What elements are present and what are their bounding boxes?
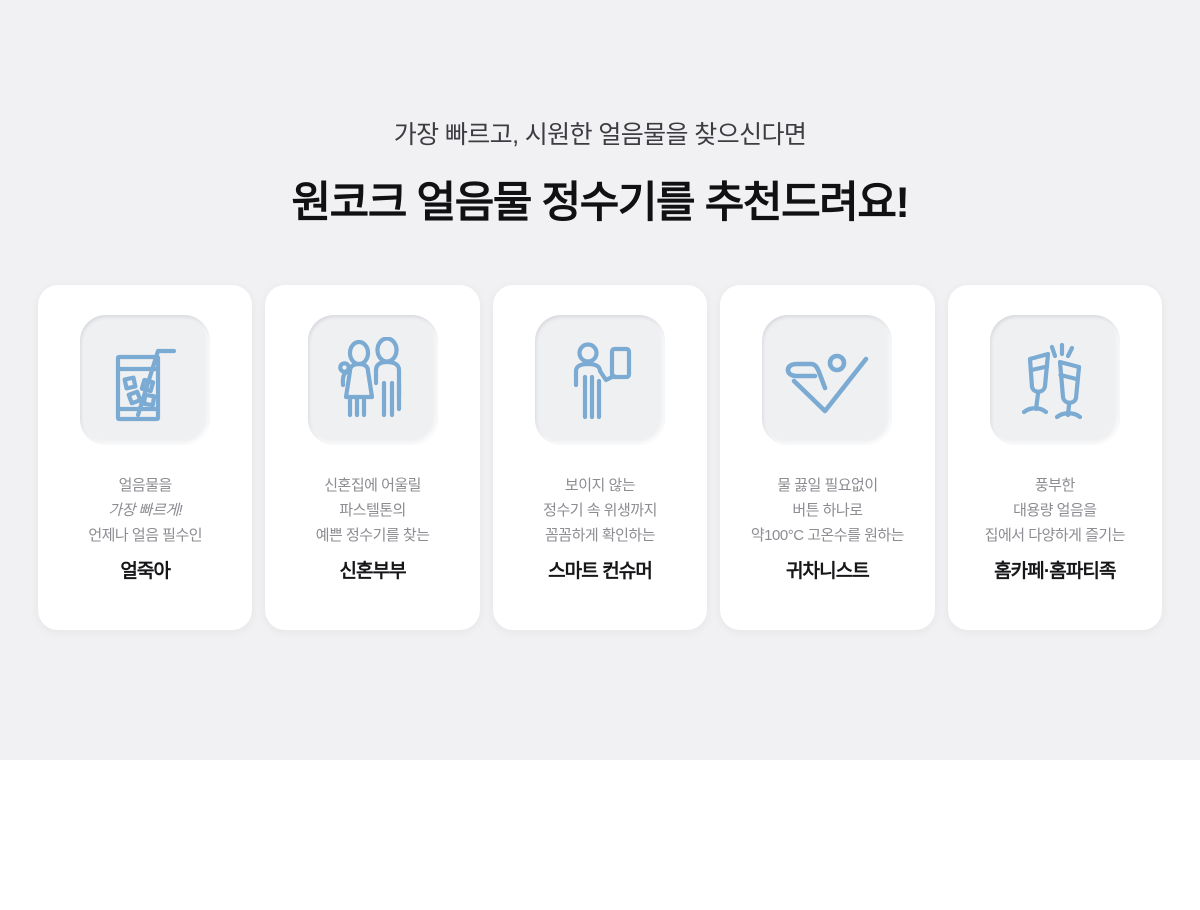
description-line-2: 정수기 속 위생까지 <box>543 498 657 523</box>
champagne-toast-icon <box>990 315 1120 445</box>
reclining-person-icon <box>762 315 892 445</box>
description-line-2: 대용량 얼음을 <box>985 498 1125 523</box>
description-line-1: 풍부한 <box>985 473 1125 498</box>
description-line-3: 약100°C 고온수를 원하는 <box>751 523 904 548</box>
description-line-1: 얼음물을 <box>88 473 202 498</box>
persona-label: 홈카페·홈파티족 <box>994 559 1116 585</box>
persona-description: 보이지 않는 정수기 속 위생까지 꼼꼼하게 확인하는 <box>543 473 657 548</box>
person-with-tablet-icon <box>535 315 665 445</box>
persona-label: 얼죽아 <box>120 559 170 585</box>
description-line-3: 예쁜 정수기를 찾는 <box>316 523 430 548</box>
description-line-2: 파스텔톤의 <box>316 498 430 523</box>
persona-card-home-cafe[interactable]: 풍부한 대용량 얼음을 집에서 다양하게 즐기는 홈카페·홈파티족 <box>948 285 1162 630</box>
persona-card-newlyweds[interactable]: 신혼집에 어울릴 파스텔톤의 예쁜 정수기를 찾는 신혼부부 <box>265 285 479 630</box>
persona-label: 신혼부부 <box>339 559 405 585</box>
description-line-2: 버튼 하나로 <box>751 498 904 523</box>
persona-label: 스마트 컨슈머 <box>548 559 652 585</box>
page-title: 원코크 얼음물 정수기를 추천드려요! <box>0 176 1200 230</box>
description-line-3: 꼼꼼하게 확인하는 <box>543 523 657 548</box>
headings-block: 가장 빠르고, 시원한 얼음물을 찾으신다면 원코크 얼음물 정수기를 추천드려… <box>0 118 1200 230</box>
persona-card-lazy-person[interactable]: 물 끓일 필요없이 버튼 하나로 약100°C 고온수를 원하는 귀차니스트 <box>720 285 934 630</box>
iced-drink-glass-icon <box>80 315 210 445</box>
persona-card-row: 얼음물을 가장 빠르게! 언제나 얼음 필수인 얼죽아 <box>38 285 1162 630</box>
persona-description: 풍부한 대용량 얼음을 집에서 다양하게 즐기는 <box>985 473 1125 548</box>
description-line-1: 물 끓일 필요없이 <box>751 473 904 498</box>
persona-description: 신혼집에 어울릴 파스텔톤의 예쁜 정수기를 찾는 <box>316 473 430 548</box>
persona-description: 얼음물을 가장 빠르게! 언제나 얼음 필수인 <box>88 473 202 548</box>
description-line-1: 보이지 않는 <box>543 473 657 498</box>
persona-label: 귀차니스트 <box>786 559 869 585</box>
description-line-1: 신혼집에 어울릴 <box>316 473 430 498</box>
description-line-2: 가장 빠르게! <box>88 498 202 523</box>
page-subtitle: 가장 빠르고, 시원한 얼음물을 찾으신다면 <box>0 118 1200 152</box>
description-line-3: 언제나 얼음 필수인 <box>88 523 202 548</box>
description-line-3: 집에서 다양하게 즐기는 <box>985 523 1125 548</box>
promo-page: 가장 빠르고, 시원한 얼음물을 찾으신다면 원코크 얼음물 정수기를 추천드려… <box>0 0 1200 910</box>
persona-card-eoljukah[interactable]: 얼음물을 가장 빠르게! 언제나 얼음 필수인 얼죽아 <box>38 285 252 630</box>
couple-icon <box>308 315 438 445</box>
persona-card-smart-consumer[interactable]: 보이지 않는 정수기 속 위생까지 꼼꼼하게 확인하는 스마트 컨슈머 <box>493 285 707 630</box>
persona-description: 물 끓일 필요없이 버튼 하나로 약100°C 고온수를 원하는 <box>751 473 904 548</box>
